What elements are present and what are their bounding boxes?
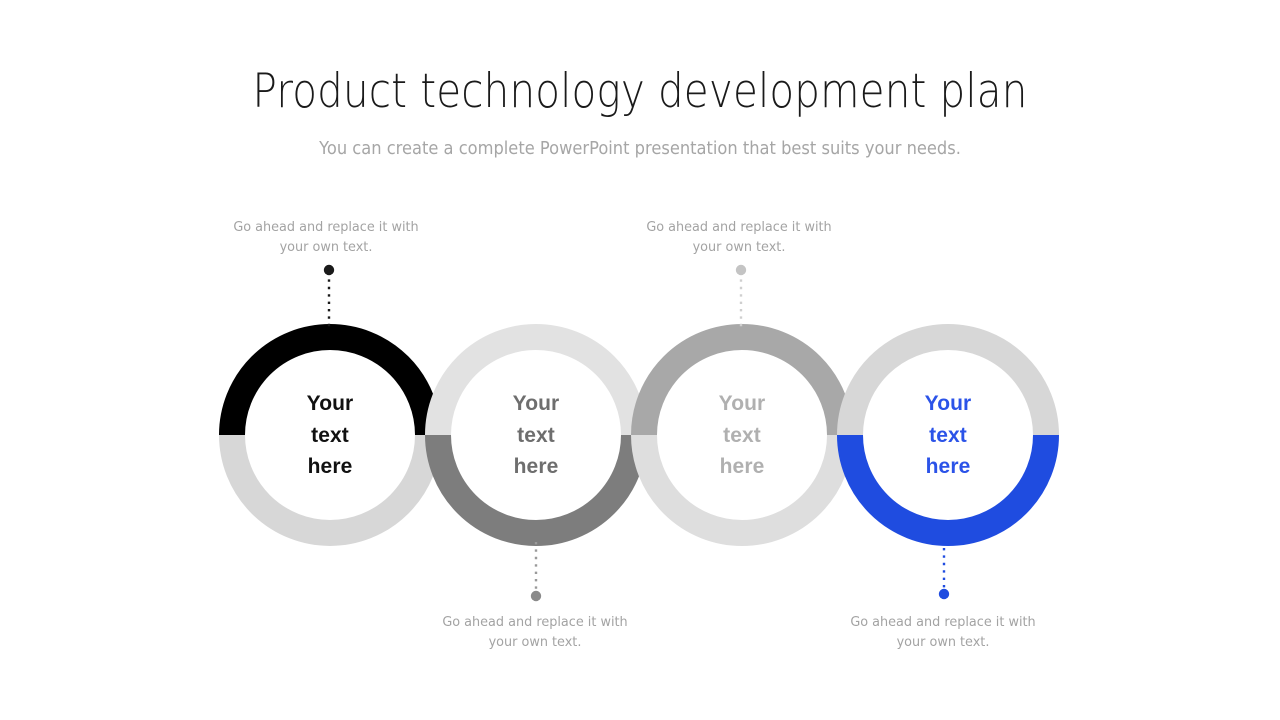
connector-1-dot [324, 265, 334, 275]
slide-canvas: Product technology development plan You … [0, 0, 1280, 720]
callout-4-line1: Go ahead and replace it with [820, 612, 1067, 632]
callout-2-line1: Go ahead and replace it with [412, 612, 659, 632]
connector-3-dot [736, 265, 746, 275]
callout-1-line1: Go ahead and replace it with [203, 217, 450, 237]
ring-2-label-line1: Your [461, 388, 611, 420]
callout-1: Go ahead and replace it with your own te… [203, 217, 450, 257]
connector-4-dot [939, 589, 949, 599]
ring-1-label-line1: Your [255, 388, 405, 420]
connector-4 [939, 548, 949, 599]
callout-1-line2: your own text. [203, 237, 450, 257]
ring-3-label-line2: text [667, 420, 817, 452]
ring-3-label: Your text here [667, 388, 817, 483]
connector-2-dot [531, 591, 541, 601]
process-diagram: Your text here Your text here Your text … [0, 0, 1280, 720]
ring-4-label-line3: here [873, 451, 1023, 483]
ring-1-label: Your text here [255, 388, 405, 483]
callout-3-line1: Go ahead and replace it with [616, 217, 863, 237]
ring-3-label-line3: here [667, 451, 817, 483]
ring-2-label-line2: text [461, 420, 611, 452]
callout-3: Go ahead and replace it with your own te… [616, 217, 863, 257]
ring-4-label: Your text here [873, 388, 1023, 483]
ring-2-label-line3: here [461, 451, 611, 483]
callout-3-line2: your own text. [616, 237, 863, 257]
ring-4-label-line2: text [873, 420, 1023, 452]
connector-3 [736, 265, 746, 330]
callout-4-line2: your own text. [820, 632, 1067, 652]
ring-4-label-line1: Your [873, 388, 1023, 420]
callout-2-line2: your own text. [412, 632, 659, 652]
connector-2 [531, 542, 541, 601]
ring-1-label-line3: here [255, 451, 405, 483]
callout-4: Go ahead and replace it with your own te… [820, 612, 1067, 652]
ring-3-label-line1: Your [667, 388, 817, 420]
ring-1-label-line2: text [255, 420, 405, 452]
ring-2-label: Your text here [461, 388, 611, 483]
callout-2: Go ahead and replace it with your own te… [412, 612, 659, 652]
connector-1 [324, 265, 334, 330]
